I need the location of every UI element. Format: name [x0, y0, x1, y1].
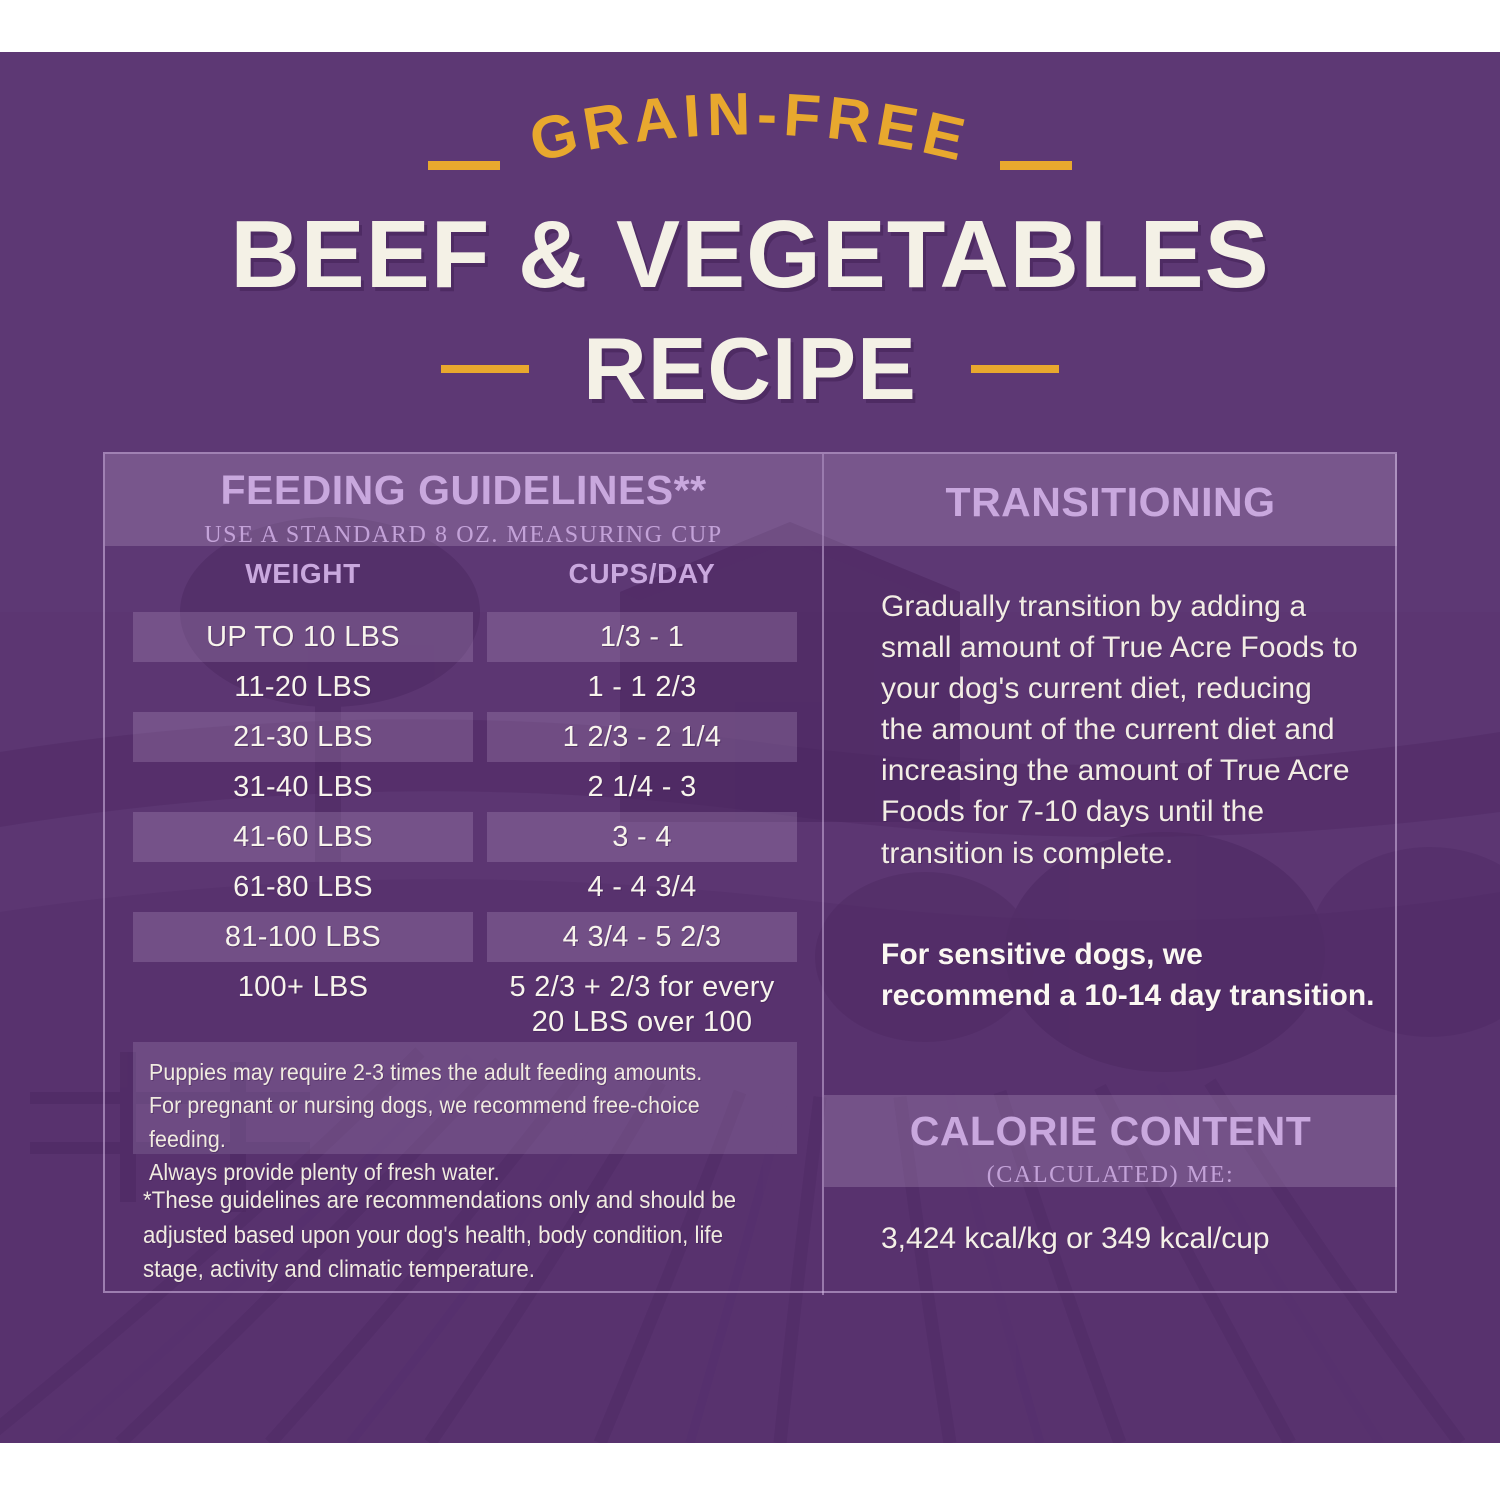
table-row: 21-30 LBS 1 2/3 - 2 1/4 — [105, 712, 822, 762]
transitioning-body-text: Gradually transition by adding a small a… — [881, 586, 1361, 874]
cell-cups: 4 3/4 - 5 2/3 — [487, 912, 797, 962]
column-header-cups-per-day: CUPS/DAY — [487, 558, 797, 590]
label-panel-stage: GRAIN-FREE BEEF & VEGETABLES RECIPE FEED… — [0, 52, 1500, 1443]
cell-cups: 1/3 - 1 — [487, 612, 797, 662]
table-row: 81-100 LBS 4 3/4 - 5 2/3 — [105, 912, 822, 962]
cell-cups-line2: 20 LBS over 100 — [532, 1005, 753, 1040]
header-block: GRAIN-FREE BEEF & VEGETABLES RECIPE — [0, 52, 1500, 452]
grain-free-dash-right — [1000, 161, 1072, 170]
feeding-guidelines-title: FEEDING GUIDELINES** — [105, 454, 822, 511]
page-title: BEEF & VEGETABLES — [0, 207, 1500, 303]
cell-cups: 4 - 4 3/4 — [487, 862, 797, 912]
feeding-guidelines-banner: FEEDING GUIDELINES** USE A STANDARD 8 OZ… — [105, 454, 822, 546]
cell-cups-line1: 5 2/3 + 2/3 for every — [509, 970, 774, 1005]
table-row: UP TO 10 LBS 1/3 - 1 — [105, 612, 822, 662]
feeding-table-header-row: WEIGHT CUPS/DAY — [105, 558, 822, 600]
cell-cups: 2 1/4 - 3 — [487, 762, 797, 812]
grain-free-arc-text: GRAIN-FREE — [0, 52, 1500, 162]
cell-weight: 61-80 LBS — [133, 862, 473, 912]
cell-weight: UP TO 10 LBS — [133, 612, 473, 662]
table-row: 61-80 LBS 4 - 4 3/4 — [105, 862, 822, 912]
table-row: 41-60 LBS 3 - 4 — [105, 812, 822, 862]
cell-cups: 1 - 1 2/3 — [487, 662, 797, 712]
svg-text:GRAIN-FREE: GRAIN-FREE — [524, 80, 977, 174]
table-row: 31-40 LBS 2 1/4 - 3 — [105, 762, 822, 812]
feeding-notes-box: Puppies may require 2-3 times the adult … — [133, 1042, 797, 1154]
cell-weight: 100+ LBS — [133, 962, 473, 1012]
recipe-label: RECIPE — [583, 325, 917, 413]
calorie-content-banner: CALORIE CONTENT (CALCULATED) ME: — [824, 1095, 1397, 1187]
column-header-weight: WEIGHT — [133, 558, 473, 590]
cell-cups: 5 2/3 + 2/3 for every 20 LBS over 100 — [487, 962, 797, 1048]
table-row: 100+ LBS 5 2/3 + 2/3 for every 20 LBS ov… — [105, 962, 822, 1048]
cell-cups: 3 - 4 — [487, 812, 797, 862]
transitioning-emphasis-text: For sensitive dogs, we recommend a 10-14… — [881, 934, 1381, 1016]
calorie-content-title: CALORIE CONTENT — [824, 1095, 1397, 1152]
feeding-note-line: For pregnant or nursing dogs, we recomme… — [149, 1089, 737, 1156]
cell-weight: 81-100 LBS — [133, 912, 473, 962]
feeding-guidelines-column: FEEDING GUIDELINES** USE A STANDARD 8 OZ… — [105, 454, 822, 1295]
feeding-guidelines-subtitle: USE A STANDARD 8 OZ. MEASURING CUP — [105, 511, 822, 547]
recipe-dash-left — [441, 365, 529, 373]
cell-weight: 11-20 LBS — [133, 662, 473, 712]
recipe-subtitle-row: RECIPE — [0, 324, 1500, 414]
calorie-content-value: 3,424 kcal/kg or 349 kcal/cup — [881, 1219, 1381, 1258]
cell-cups: 1 2/3 - 2 1/4 — [487, 712, 797, 762]
feeding-note-line: Puppies may require 2-3 times the adult … — [149, 1056, 737, 1089]
grain-free-dash-left — [428, 161, 500, 170]
cell-weight: 21-30 LBS — [133, 712, 473, 762]
info-panel: FEEDING GUIDELINES** USE A STANDARD 8 OZ… — [103, 452, 1397, 1293]
table-row: 11-20 LBS 1 - 1 2/3 — [105, 662, 822, 712]
calorie-content-subtitle: (CALCULATED) ME: — [824, 1152, 1397, 1187]
transitioning-banner: TRANSITIONING — [824, 454, 1397, 546]
feeding-disclaimer: *These guidelines are recommendations on… — [143, 1184, 738, 1288]
recipe-dash-right — [971, 365, 1059, 373]
transitioning-column: TRANSITIONING Gradually transition by ad… — [824, 454, 1397, 1295]
cell-weight: 41-60 LBS — [133, 812, 473, 862]
transitioning-title: TRANSITIONING — [824, 454, 1397, 523]
cell-weight: 31-40 LBS — [133, 762, 473, 812]
